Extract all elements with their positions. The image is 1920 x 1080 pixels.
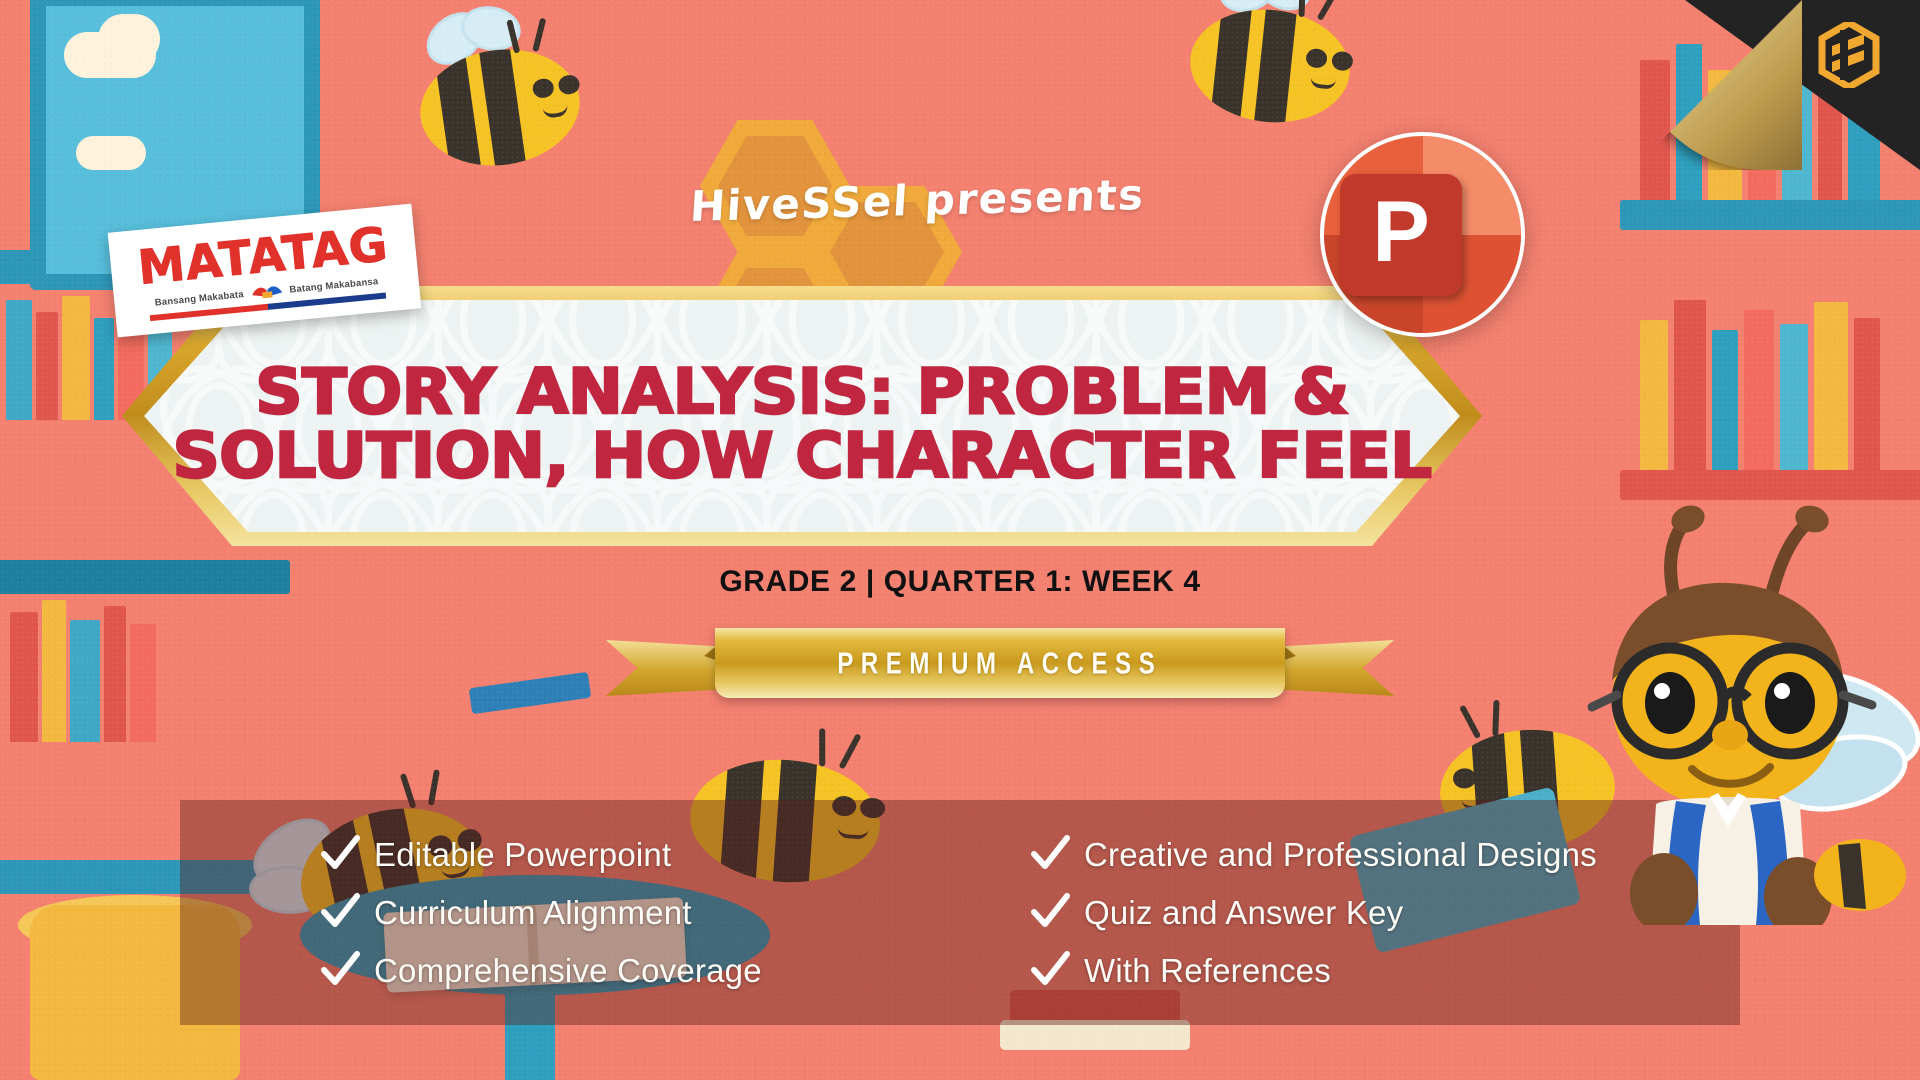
powerpoint-tile: P [1340,174,1462,296]
book-decor [70,620,100,742]
matatag-right-subtitle: Batang Makabansa [289,276,379,296]
page-title-line-2: Solution, How Character Feel [81,424,1523,488]
book-decor [1854,318,1880,470]
list-item: Comprehensive Coverage [320,942,1030,1000]
book-decor [104,606,126,742]
book-decor [42,600,66,742]
premium-access-label: PREMIUM ACCESS [838,645,1163,682]
book-decor [1674,300,1706,470]
book-decor [1640,320,1668,470]
check-icon [1030,893,1070,933]
feature-label: With References [1084,952,1331,990]
powerpoint-letter: P [1372,189,1429,275]
book-decor [1814,302,1848,470]
book-decor [1712,330,1738,470]
feature-label: Editable Powerpoint [374,836,671,874]
list-item: Editable Powerpoint [320,826,1030,884]
page-title: Story Analysis: Problem & Solution, How … [81,360,1523,489]
list-item: With References [1030,942,1740,1000]
book-decor [6,300,32,420]
bee-decor [413,39,587,175]
page-title-line-1: Story Analysis: Problem & [81,360,1523,424]
book-decor [1640,60,1670,200]
feature-label: Curriculum Alignment [374,894,692,932]
premium-access-ribbon: PREMIUM ACCESS [600,618,1400,710]
feature-label: Comprehensive Coverage [374,952,762,990]
feature-label: Quiz and Answer Key [1084,894,1403,932]
bookshelf-right [1620,200,1920,230]
book-decor [130,624,156,742]
ribbon-tail-left [606,640,726,696]
book-decor [10,612,38,742]
ribbon-tail-right [1274,640,1394,696]
handshake-icon [249,281,285,304]
book-decor [1780,324,1808,470]
ribbon-body: PREMIUM ACCESS [715,628,1285,698]
bee-mascot-icon [1560,505,1920,925]
list-item: Curriculum Alignment [320,884,1030,942]
check-icon [320,835,360,875]
check-icon [1030,951,1070,991]
hexagon-honeycomb-logo-icon [1818,22,1880,88]
matatag-left-subtitle: Bansang Makabata [154,289,244,309]
features-list: Editable Powerpoint Creative and Profess… [180,800,1740,1025]
book-decor [1744,310,1774,470]
check-icon [320,951,360,991]
feature-label: Creative and Professional Designs [1084,836,1597,874]
book-decor [36,312,58,420]
bee-decor [1185,2,1356,130]
book-prop [469,672,591,714]
bookshelf-right-mid [1620,470,1920,500]
check-icon [1030,835,1070,875]
powerpoint-icon: P [1320,132,1525,337]
check-icon [320,893,360,933]
